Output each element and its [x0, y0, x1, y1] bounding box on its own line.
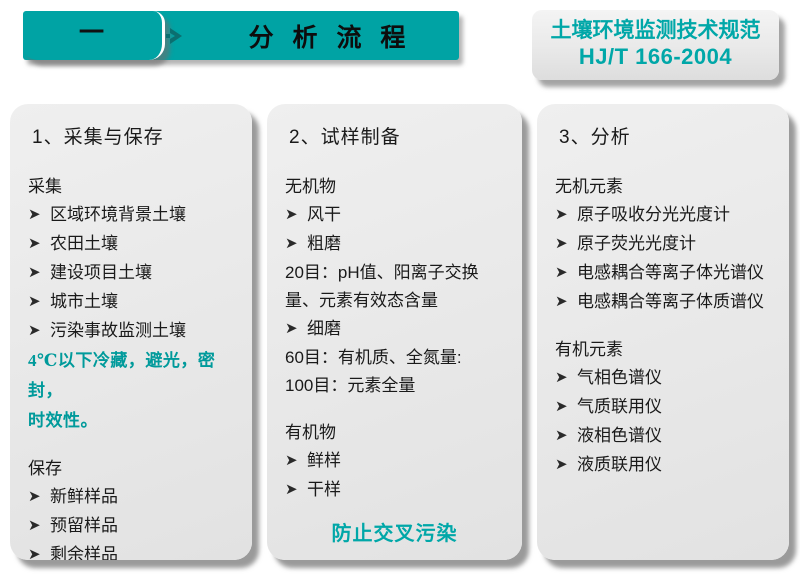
- arrow-bullet-icon: ➤: [285, 315, 307, 343]
- list-item-label: 剩余样品: [50, 541, 238, 560]
- list-item-label: 原子荧光光度计: [577, 230, 775, 258]
- list-item-label: 区域环境背景土壤: [50, 201, 238, 229]
- list-item: ➤预留样品: [28, 512, 238, 541]
- arrow-bullet-icon: ➤: [285, 230, 307, 258]
- stage-card-2: 2、试样制备 无机物➤风干➤粗磨20目：pH值、阳离子交换量、元素有效态含量➤细…: [267, 104, 522, 560]
- section-subheading: 有机元素: [555, 337, 775, 363]
- list-item-label: 农田土壤: [50, 230, 238, 258]
- arrow-bullet-icon: ➤: [555, 393, 577, 421]
- arrow-bullet-icon: ➤: [28, 230, 50, 258]
- list-item-label: 预留样品: [50, 512, 238, 540]
- highlight-note: 时效性。: [28, 406, 238, 436]
- arrow-bullet-icon: ➤: [28, 317, 50, 345]
- card-body: 采集➤区域环境背景土壤➤农田土壤➤建设项目土壤➤城市土壤➤污染事故监测土壤4℃以…: [28, 174, 238, 560]
- standard-name: 土壤环境监测技术规范: [551, 18, 761, 44]
- section-subheading: 有机物: [285, 420, 508, 446]
- list-item: ➤电感耦合等离子体光谱仪: [555, 259, 775, 288]
- stage-card-3: 3、分析 无机元素➤原子吸收分光光度计➤原子荧光光度计➤电感耦合等离子体光谱仪➤…: [537, 104, 789, 560]
- standard-code: HJ/T 166-2004: [579, 44, 732, 70]
- arrow-bullet-icon: ➤: [285, 447, 307, 475]
- list-item: ➤建设项目土壤: [28, 259, 238, 288]
- list-item-label: 城市土壤: [50, 288, 238, 316]
- list-item-label: 液质联用仪: [577, 451, 775, 479]
- highlight-note: 4℃以下冷藏，避光，密封，: [28, 346, 238, 406]
- spacer: [555, 317, 775, 337]
- spacer: [28, 436, 238, 456]
- list-item: ➤区域环境背景土壤: [28, 201, 238, 230]
- list-item-label: 电感耦合等离子体光谱仪: [577, 259, 775, 287]
- arrow-bullet-icon: ➤: [555, 364, 577, 392]
- stage-card-1: 1、采集与保存 采集➤区域环境背景土壤➤农田土壤➤建设项目土壤➤城市土壤➤污染事…: [10, 104, 252, 560]
- list-item: ➤原子荧光光度计: [555, 230, 775, 259]
- arrow-bullet-icon: ➤: [28, 288, 50, 316]
- list-item: ➤细磨: [285, 315, 508, 344]
- arrow-bullet-icon: ➤: [28, 541, 50, 560]
- arrow-bullet-icon: ➤: [28, 483, 50, 511]
- header-section-number: 一: [79, 21, 106, 50]
- list-item: ➤液相色谱仪: [555, 422, 775, 451]
- list-item: ➤鲜样: [285, 447, 508, 476]
- list-item: ➤污染事故监测土壤: [28, 317, 238, 346]
- list-item-label: 粗磨: [307, 230, 508, 258]
- chevron-right-icon: [166, 24, 188, 48]
- list-item-label: 污染事故监测土壤: [50, 317, 238, 345]
- page-title: 分 析 流 程: [195, 11, 459, 60]
- section-subheading: 无机元素: [555, 174, 775, 200]
- section-subheading: 采集: [28, 174, 238, 200]
- slide-root: 一 分 析 流 程 土壤环境监测技术规范 HJ/T 166-2004 1、采集与…: [0, 0, 800, 586]
- list-item: ➤城市土壤: [28, 288, 238, 317]
- standard-reference-box: 土壤环境监测技术规范 HJ/T 166-2004: [532, 10, 779, 80]
- arrow-bullet-icon: ➤: [285, 476, 307, 504]
- card-title: 1、采集与保存: [32, 126, 238, 150]
- arrow-bullet-icon: ➤: [555, 230, 577, 258]
- arrow-bullet-icon: ➤: [555, 288, 577, 316]
- arrow-bullet-icon: ➤: [555, 451, 577, 479]
- list-item: ➤剩余样品: [28, 541, 238, 560]
- list-item: ➤新鲜样品: [28, 483, 238, 512]
- detail-line: 量、元素有效态含量: [285, 287, 508, 315]
- card-body: 无机物➤风干➤粗磨20目：pH值、阳离子交换量、元素有效态含量➤细磨60目：有机…: [285, 174, 508, 505]
- list-item-label: 电感耦合等离子体质谱仪: [577, 288, 775, 316]
- list-item: ➤粗磨: [285, 230, 508, 259]
- arrow-bullet-icon: ➤: [28, 512, 50, 540]
- section-subheading: 保存: [28, 456, 238, 482]
- list-item: ➤液质联用仪: [555, 451, 775, 480]
- arrow-bullet-icon: ➤: [555, 259, 577, 287]
- list-item-label: 气相色谱仪: [577, 364, 775, 392]
- list-item-label: 鲜样: [307, 447, 508, 475]
- list-item-label: 建设项目土壤: [50, 259, 238, 287]
- list-item-label: 液相色谱仪: [577, 422, 775, 450]
- header-section-tab[interactable]: 一: [23, 11, 165, 60]
- list-item: ➤气相色谱仪: [555, 364, 775, 393]
- list-item-label: 干样: [307, 476, 508, 504]
- list-item-label: 原子吸收分光光度计: [577, 201, 775, 229]
- card-footer-note: 防止交叉污染: [267, 517, 522, 546]
- section-subheading: 无机物: [285, 174, 508, 200]
- arrow-bullet-icon: ➤: [555, 422, 577, 450]
- list-item-label: 细磨: [307, 315, 508, 343]
- arrow-bullet-icon: ➤: [555, 201, 577, 229]
- arrow-bullet-icon: ➤: [28, 201, 50, 229]
- list-item: ➤电感耦合等离子体质谱仪: [555, 288, 775, 317]
- card-title: 3、分析: [559, 126, 775, 150]
- list-item-label: 新鲜样品: [50, 483, 238, 511]
- list-item: ➤原子吸收分光光度计: [555, 201, 775, 230]
- list-item: ➤风干: [285, 201, 508, 230]
- list-item-label: 气质联用仪: [577, 393, 775, 421]
- card-title: 2、试样制备: [289, 126, 508, 150]
- arrow-bullet-icon: ➤: [285, 201, 307, 229]
- list-item-label: 风干: [307, 201, 508, 229]
- detail-line: 100目：元素全量: [285, 372, 508, 400]
- list-item: ➤农田土壤: [28, 230, 238, 259]
- spacer: [285, 400, 508, 420]
- list-item: ➤气质联用仪: [555, 393, 775, 422]
- card-body: 无机元素➤原子吸收分光光度计➤原子荧光光度计➤电感耦合等离子体光谱仪➤电感耦合等…: [555, 174, 775, 480]
- arrow-bullet-icon: ➤: [28, 259, 50, 287]
- list-item: ➤干样: [285, 476, 508, 505]
- detail-line: 20目：pH值、阳离子交换: [285, 259, 508, 287]
- detail-line: 60目：有机质、全氮量:: [285, 344, 508, 372]
